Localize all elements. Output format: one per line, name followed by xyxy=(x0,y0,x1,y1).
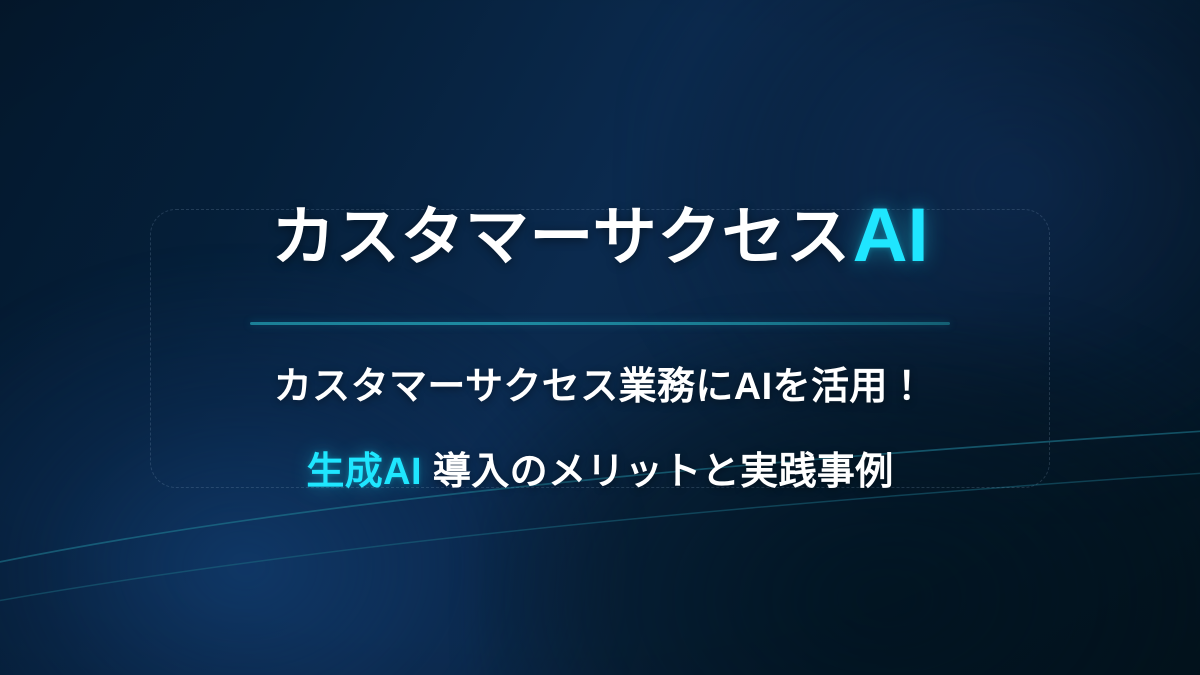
banner-slide: カスタマーサクセスAI カスタマーサクセス業務にAIを活用！ 生成AI 導入のメ… xyxy=(0,0,1200,675)
title-accent-ai: AI xyxy=(853,193,929,278)
banner-content: カスタマーサクセスAI カスタマーサクセス業務にAIを活用！ 生成AI 導入のメ… xyxy=(0,0,1200,675)
subtitle-accent-generative-ai: 生成AI xyxy=(306,451,422,493)
page-title: カスタマーサクセスAI xyxy=(0,196,1200,276)
subtitle-line-1-text: カスタマーサクセス業務にAIを活用！ xyxy=(274,366,926,408)
subtitle-line-1: カスタマーサクセス業務にAIを活用！ xyxy=(0,355,1200,410)
subtitle-line-2: 生成AI 導入のメリットと実践事例 xyxy=(0,440,1200,495)
title-main-text: カスタマーサクセス xyxy=(271,201,850,273)
title-divider xyxy=(250,322,950,325)
subtitle-line-2-rest: 導入のメリットと実践事例 xyxy=(422,451,894,493)
